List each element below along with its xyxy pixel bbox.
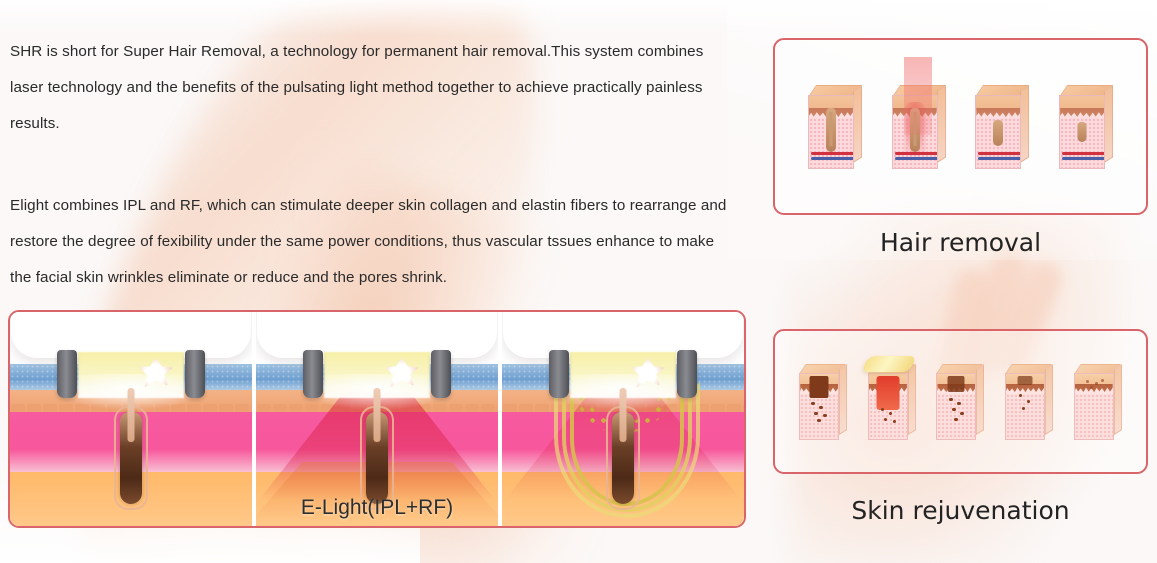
vein (811, 157, 854, 160)
rf-electrode-right (185, 350, 205, 398)
elight-stage-1 (10, 312, 252, 526)
paragraph-shr: SHR is short for Super Hair Removal, a t… (10, 34, 736, 142)
pigment-dot (889, 412, 892, 415)
vein (978, 157, 1021, 160)
pigment-dot (949, 398, 952, 401)
skin-block (808, 85, 862, 169)
skin-block-side-face (908, 364, 916, 435)
skin-block (868, 364, 916, 440)
artery (811, 152, 854, 155)
skin-block-side-face (976, 364, 984, 435)
pigment-particles (807, 376, 831, 422)
hair-follicle (993, 120, 1003, 146)
skin-block-front-face (1074, 373, 1114, 440)
skin-block (936, 364, 984, 440)
skin-block-front-face (1005, 373, 1045, 440)
skin-block-front-face (975, 95, 1021, 169)
elight-illustration-panel: E-Light(IPL+RF) (8, 310, 746, 528)
pigment-dot (811, 402, 814, 405)
pigment-dot (952, 408, 955, 411)
skin-rejuvenation-stage-blocks (775, 331, 1146, 472)
blood-vessels (978, 152, 1021, 162)
skin-block-side-face (1045, 364, 1053, 435)
skin-block-side-face (937, 85, 946, 163)
pigment-dot (884, 418, 887, 421)
skin-block (975, 85, 1029, 169)
skin-block-front-face (799, 373, 839, 440)
light-beam (904, 57, 932, 135)
hair-removal-panel (773, 38, 1148, 215)
hair-shaft (128, 388, 135, 442)
rf-electrode-left (57, 350, 77, 398)
hair-shaft (620, 388, 627, 442)
vein (895, 157, 938, 160)
pigment-dot (1090, 386, 1093, 389)
skin-block-front-face (1059, 95, 1105, 169)
description-text-block: SHR is short for Super Hair Removal, a t… (10, 34, 736, 296)
artery (978, 152, 1021, 155)
skin-block-side-face (839, 364, 847, 435)
pigment-dot (954, 418, 957, 421)
blood-vessels (1062, 152, 1105, 162)
skin-block (799, 364, 847, 440)
skin-block (1059, 85, 1113, 169)
elight-stage-strip: E-Light(IPL+RF) (10, 312, 744, 526)
elight-stage-3 (502, 312, 744, 526)
pigment-dot (1086, 380, 1089, 383)
hair-follicle (1078, 122, 1087, 142)
hair-shaft (829, 112, 832, 146)
skin-block-front-face (808, 95, 854, 169)
pigment-dot (1019, 394, 1022, 397)
rf-electrode-right (431, 350, 451, 398)
pigment-dot (881, 408, 884, 411)
rf-electrode-left (549, 350, 569, 398)
pigment-dot (823, 414, 826, 417)
vein (1062, 157, 1105, 160)
hair-shaft (374, 388, 381, 442)
skin-block-side-face (1104, 85, 1113, 163)
pigment-dot (1095, 382, 1098, 385)
skin-block-front-face (936, 373, 976, 440)
rf-electrode-right (677, 350, 697, 398)
skin-rejuvenation-panel (773, 329, 1148, 474)
hair-follicle (606, 388, 640, 506)
pigment-dot (957, 402, 960, 405)
hair-follicle (114, 388, 148, 506)
skin-block (892, 85, 946, 169)
hair-removal-stage-blocks (775, 40, 1146, 213)
skin-block-side-face (853, 85, 862, 163)
skin-block-side-face (1020, 85, 1029, 163)
blood-vessels (811, 152, 854, 162)
pigment-dot (960, 412, 963, 415)
pigment-dot (814, 412, 817, 415)
pigment-particles (1013, 376, 1037, 422)
artery (895, 152, 938, 155)
skin-block-side-face (1114, 364, 1122, 435)
pigment-dot (817, 419, 820, 422)
background-highlight-top (0, 0, 1157, 36)
paragraph-elight: Elight combines IPL and RF, which can st… (10, 188, 736, 296)
pigment-dot (819, 406, 822, 409)
rf-electrode-left (303, 350, 323, 398)
pigment-particles (876, 376, 900, 422)
skin-rejuvenation-caption: Skin rejuvenation (773, 496, 1148, 525)
skin-block (1005, 364, 1053, 440)
elight-label: E-Light(IPL+RF) (256, 496, 498, 520)
skin-block (1074, 364, 1122, 440)
pigment-dot (1022, 407, 1025, 410)
pigment-dot (1027, 400, 1030, 403)
hair-follicle (826, 108, 836, 152)
skin-block-front-face (868, 373, 908, 440)
hair-removal-caption: Hair removal (773, 228, 1148, 257)
blood-vessels (895, 152, 938, 162)
pigment-dot (1101, 379, 1104, 382)
pigment-particles (944, 376, 968, 422)
elight-stage-2: E-Light(IPL+RF) (256, 312, 498, 526)
artery (1062, 152, 1105, 155)
pigment-particles (1082, 376, 1106, 422)
hair-follicle (360, 388, 394, 506)
product-info-page: SHR is short for Super Hair Removal, a t… (0, 0, 1157, 563)
light-pulse-overlay (861, 356, 917, 372)
